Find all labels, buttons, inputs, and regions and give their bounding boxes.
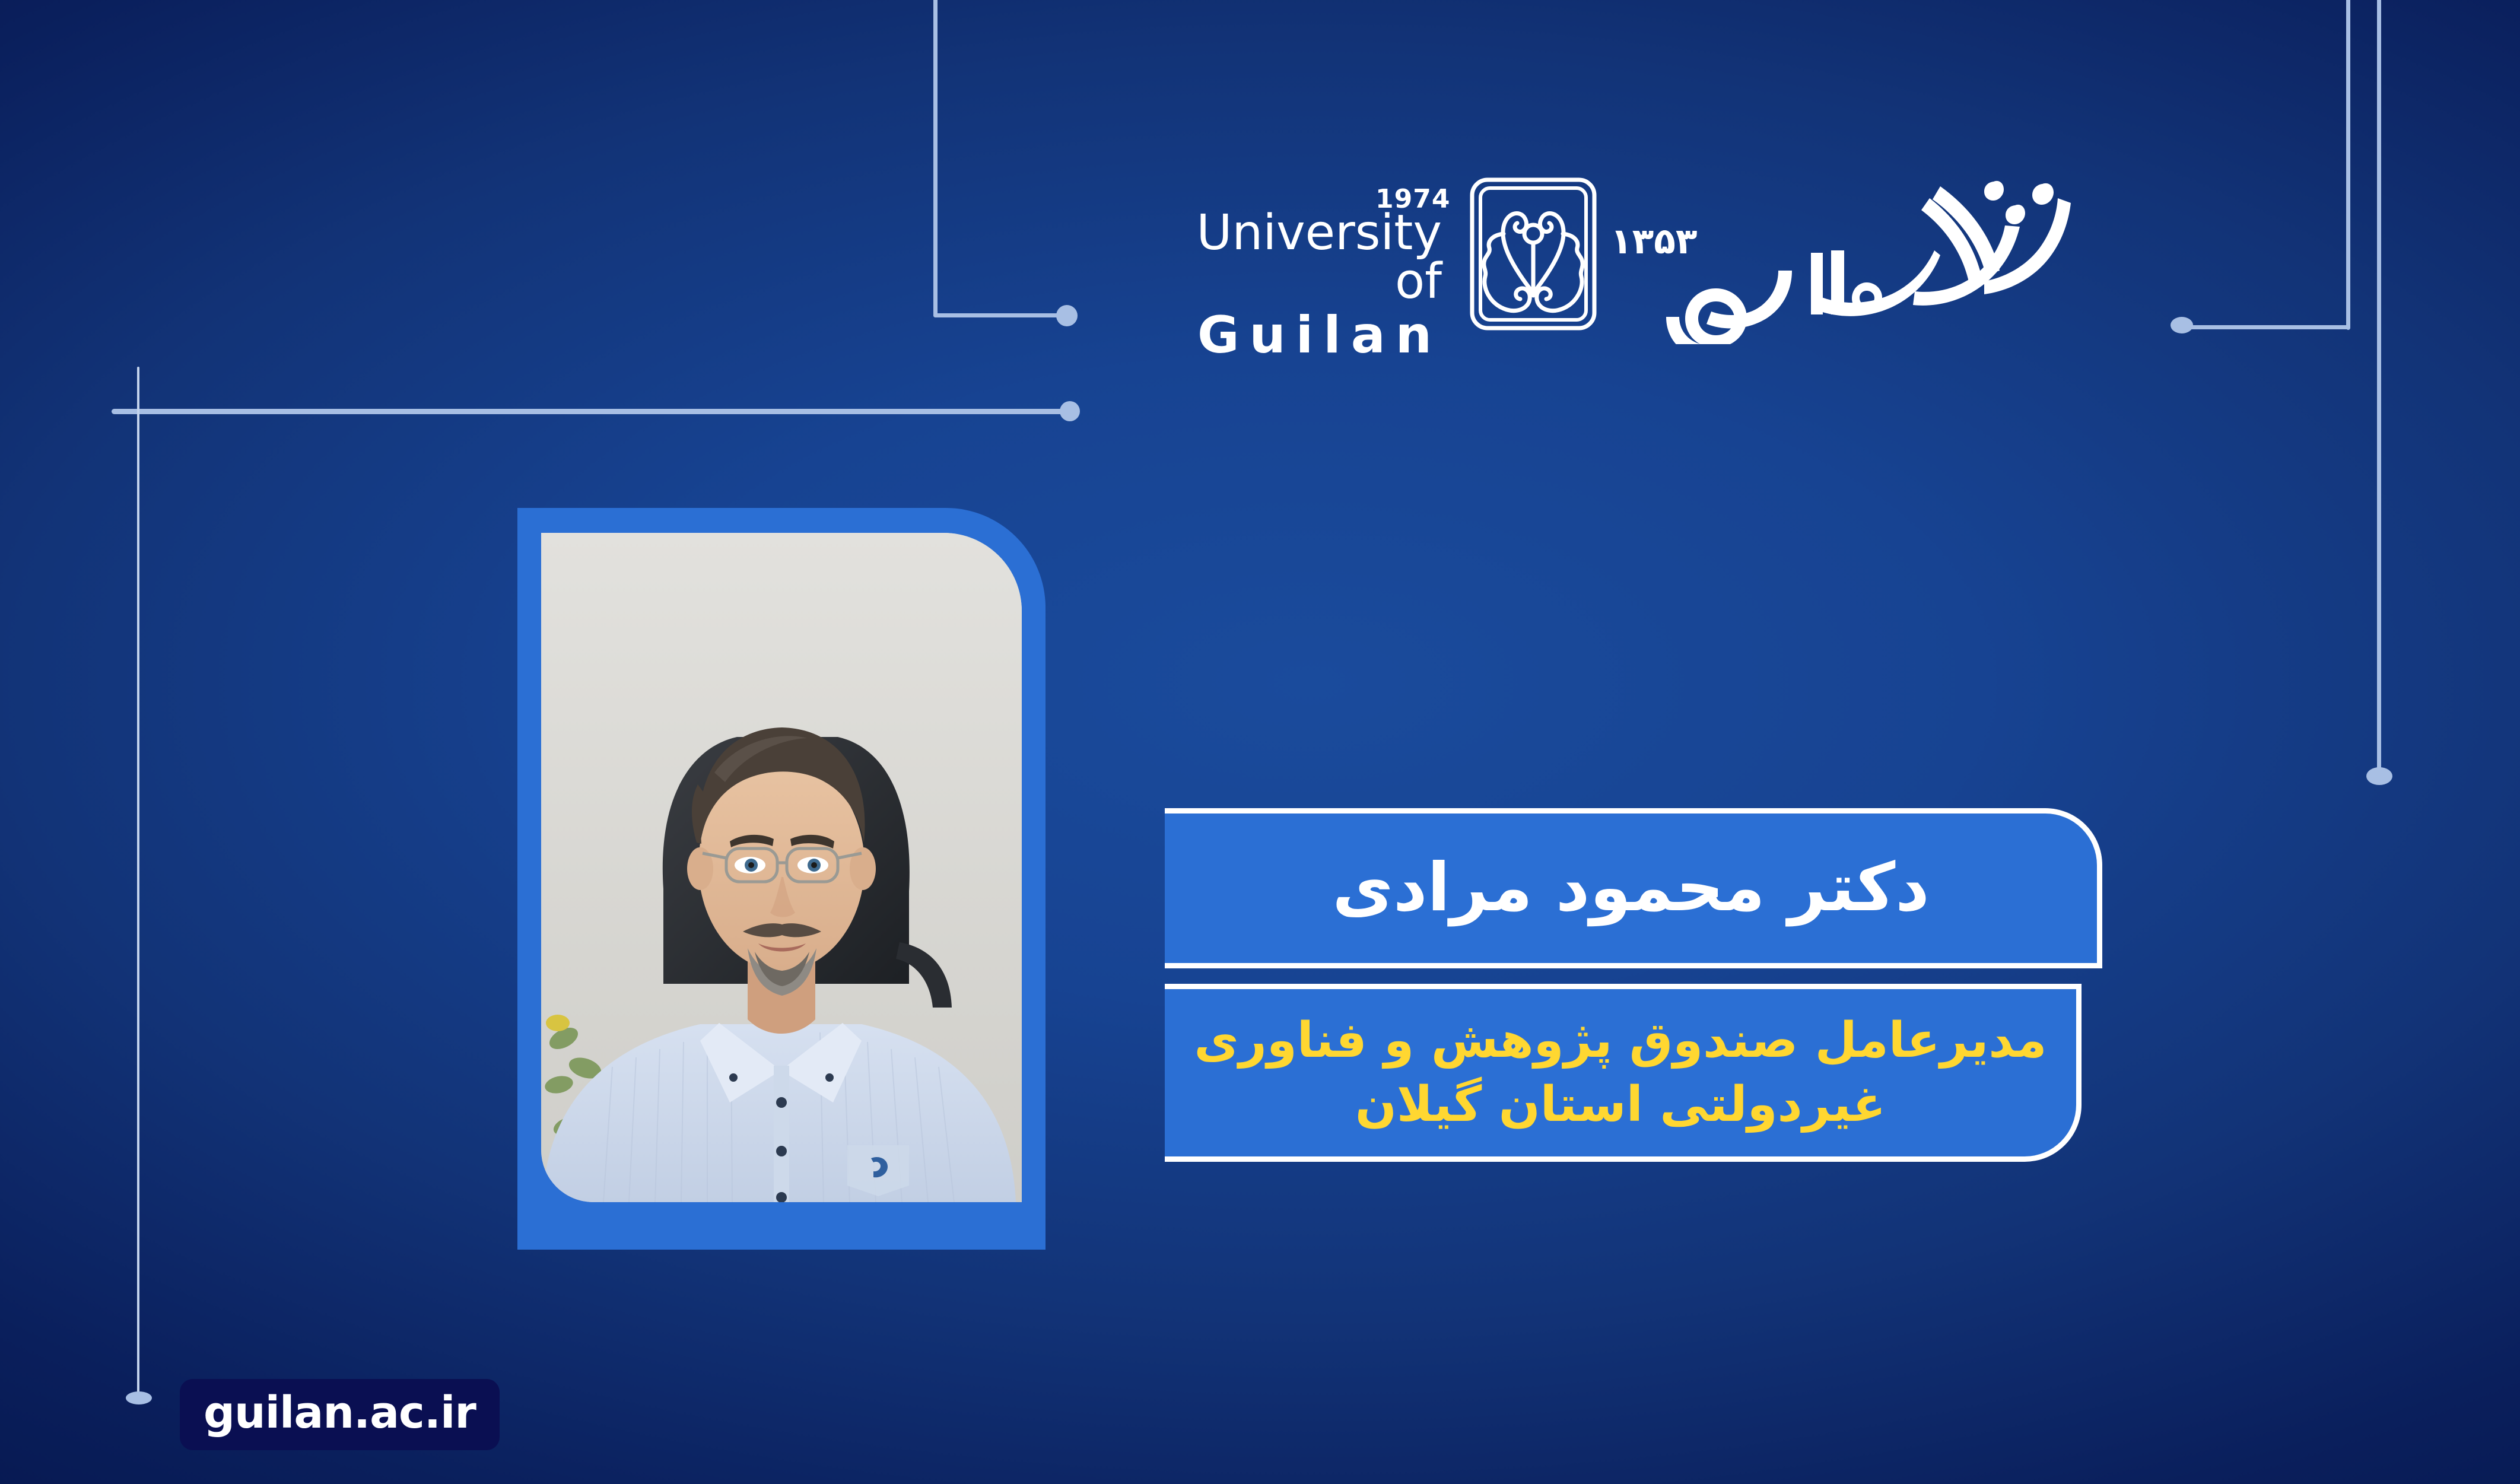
logo-year-gregorian: 1974 xyxy=(1375,184,1450,214)
logo-english-line1: University of xyxy=(1145,209,1442,306)
decorative-dot-left-bottom xyxy=(126,1391,152,1404)
portrait-frame xyxy=(517,508,1046,1250)
portrait-photo xyxy=(541,533,1022,1202)
decorative-dot-top-right xyxy=(2171,317,2193,333)
logo-english-line2: Guilan xyxy=(1145,306,1442,365)
website-url-badge[interactable]: guilan.ac.ir xyxy=(180,1379,500,1450)
decorative-line-left-vertical xyxy=(137,367,139,1402)
logo-english-name: University of Guilan xyxy=(1145,209,1442,365)
university-logo: University of Guilan 1974 xyxy=(1145,190,2095,392)
speaker-role-banner: مدیرعامل صندوق پژوهش و فناوری غیردولتی ا… xyxy=(1165,984,2082,1162)
decorative-line-right-vertical xyxy=(2377,0,2381,775)
logo-persian-name xyxy=(1661,148,2077,344)
speaker-name: دکتر محمود مرادی xyxy=(1332,851,1929,924)
speaker-role-line1: مدیرعامل صندوق پژوهش و فناوری xyxy=(1194,1009,2046,1073)
guilan-university-emblem-icon xyxy=(1469,177,1597,331)
decorative-line-top-left-vertical xyxy=(933,0,938,317)
decorative-dot-right xyxy=(2366,767,2392,785)
speaker-role: مدیرعامل صندوق پژوهش و فناوری غیردولتی ا… xyxy=(1194,1009,2046,1137)
decorative-line-top-right-horizontal xyxy=(2179,325,2350,329)
speaker-role-line2: غیردولتی استان گیلان xyxy=(1194,1073,2046,1137)
decorative-line-top-right-vertical xyxy=(2346,0,2350,330)
poster-canvas: University of Guilan 1974 xyxy=(0,0,2520,1484)
decorative-line-left-horizontal xyxy=(112,409,1072,414)
decorative-dot-top-left xyxy=(1056,305,1078,326)
decorative-dot-left xyxy=(1060,401,1080,421)
decorative-line-top-left-horizontal xyxy=(933,313,1068,317)
speaker-name-banner: دکتر محمود مرادی xyxy=(1165,808,2102,968)
